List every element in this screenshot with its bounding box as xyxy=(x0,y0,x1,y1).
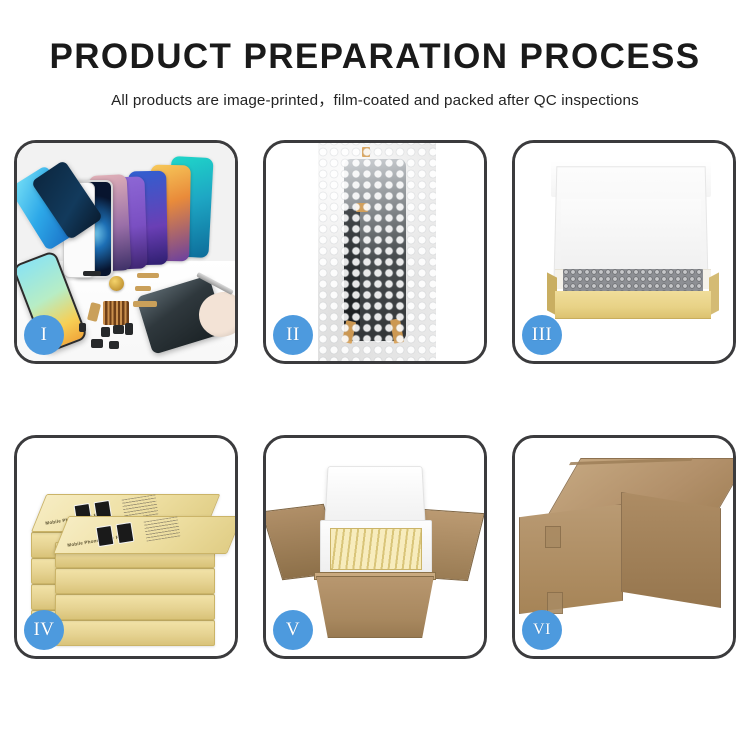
step-badge-1: I xyxy=(24,315,64,355)
carton-tape-upper xyxy=(545,526,561,548)
connector-part-c xyxy=(91,339,103,348)
process-step-panel-2[interactable]: II xyxy=(263,140,487,364)
process-step-panel-6[interactable]: VI xyxy=(512,435,736,659)
camera-module-part xyxy=(101,327,110,337)
step-badge-3: III xyxy=(522,315,562,355)
carton-left-face xyxy=(519,504,623,614)
foam-back-sheet xyxy=(561,199,701,273)
box-thumbnail-front-a xyxy=(96,525,115,547)
speaker-part xyxy=(83,271,101,276)
page-subtitle: All products are image-printed，film-coat… xyxy=(0,88,750,110)
flex-cable-part-a xyxy=(137,273,159,278)
bubble-texture xyxy=(318,143,436,361)
process-step-grid: I II III xyxy=(14,140,736,659)
retail-box-stack: Mobile Phone Spare Parts Mobile Phone Sp… xyxy=(31,460,227,640)
panel-5-image: V xyxy=(266,438,484,656)
inner-box-front-panel xyxy=(555,291,711,319)
step-badge-4: IV xyxy=(24,610,64,650)
connector-part-d xyxy=(109,341,119,349)
logic-board-part xyxy=(103,301,129,325)
vibration-motor-part xyxy=(109,276,124,291)
step-badge-6: VI xyxy=(522,610,562,650)
panel-1-image: I xyxy=(17,143,235,361)
connector-part-e xyxy=(79,323,86,332)
panel-6-image: VI xyxy=(515,438,733,656)
process-step-panel-3[interactable]: III xyxy=(512,140,736,364)
foam-liner-lid xyxy=(324,466,425,526)
page-title: PRODUCT PREPARATION PROCESS xyxy=(0,38,750,75)
process-step-panel-4[interactable]: Mobile Phone Spare Parts Mobile Phone Sp… xyxy=(14,435,238,659)
process-step-panel-5[interactable]: V xyxy=(263,435,487,659)
step-badge-5: V xyxy=(273,610,313,650)
flex-cable-part-b xyxy=(135,286,151,291)
connector-part-a xyxy=(113,325,124,334)
process-step-panel-1[interactable]: I xyxy=(14,140,238,364)
connector-part-b xyxy=(125,323,133,335)
page-header: PRODUCT PREPARATION PROCESS All products… xyxy=(0,0,750,110)
packed-yellow-boxes xyxy=(330,528,422,570)
stacked-box-5 xyxy=(55,620,215,646)
box-thumbnail-front-b xyxy=(116,522,135,544)
bubble-wrapped-item-in-box xyxy=(563,269,703,293)
stacked-box-7 xyxy=(55,568,215,594)
flex-cable-part-c xyxy=(133,301,157,307)
stacked-box-6 xyxy=(55,594,215,620)
carton-right-face xyxy=(621,492,721,608)
panel-3-image: III xyxy=(515,143,733,361)
carton-body-open xyxy=(316,576,434,638)
bubble-wrap-bag xyxy=(318,143,436,361)
panel-4-image: Mobile Phone Spare Parts Mobile Phone Sp… xyxy=(17,438,235,656)
step-badge-2: II xyxy=(273,315,313,355)
panel-2-image: II xyxy=(266,143,484,361)
